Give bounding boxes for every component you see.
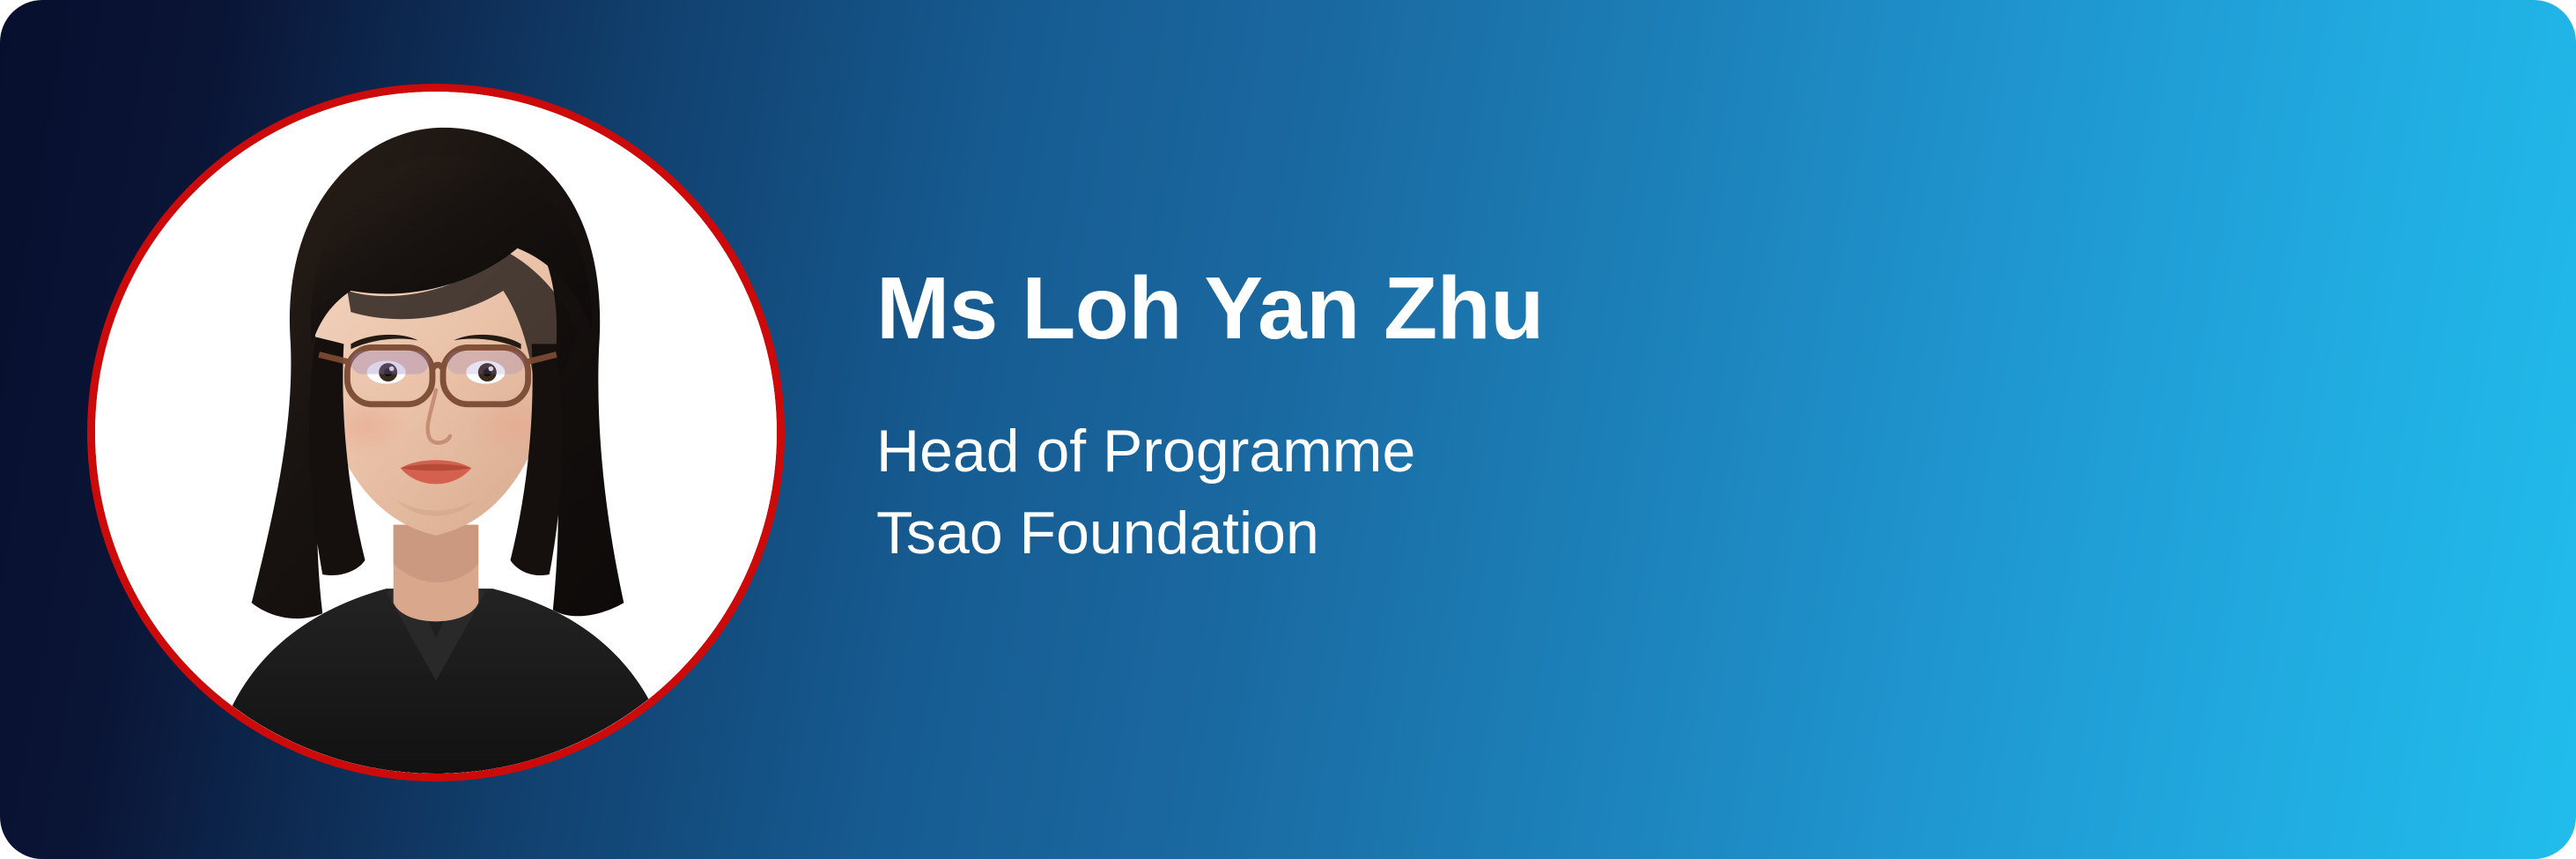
speaker-meta: Head of Programme Tsao Foundation [876,411,2197,574]
speaker-name: Ms Loh Yan Zhu [876,264,2197,352]
speaker-role: Head of Programme [876,411,2197,492]
avatar [87,84,785,781]
speaker-organisation: Tsao Foundation [876,492,2197,574]
speaker-info: Ms Loh Yan Zhu Head of Programme Tsao Fo… [876,264,2197,574]
screenshot-stage: Ms Loh Yan Zhu Head of Programme Tsao Fo… [0,0,2576,859]
avatar-photo [95,92,777,774]
speaker-banner-card: Ms Loh Yan Zhu Head of Programme Tsao Fo… [0,0,2576,859]
